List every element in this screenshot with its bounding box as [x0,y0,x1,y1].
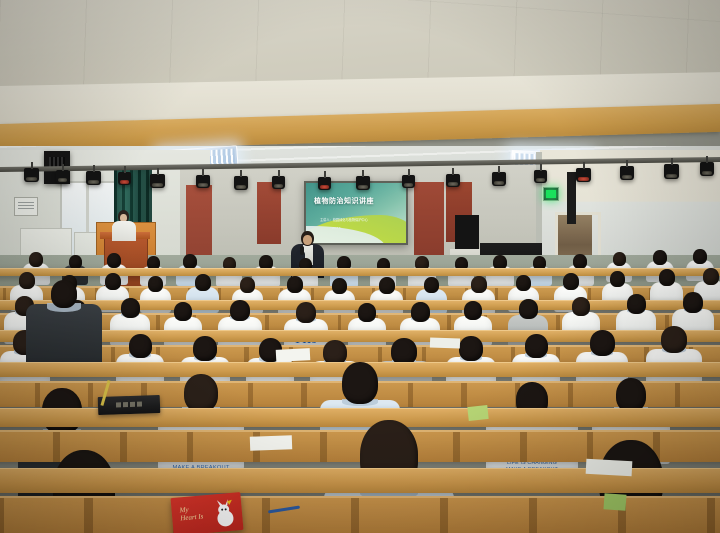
audience-member-head [183,254,197,269]
slide-subtitle: 主讲人：校园绿化与植物保护中心 [320,217,368,222]
audience-member-head [184,374,218,412]
audience-member-head [332,278,347,294]
stage-light-9 [318,177,331,190]
stage-light-6 [196,175,210,188]
slide-title: 植物防治知识讲座 [314,196,374,206]
stage-light-10 [356,176,370,190]
audience-member-head [693,249,707,264]
audience-member-head [358,303,376,322]
audience-member-head [563,273,579,290]
audience-member-head [287,276,303,293]
audience-member-head [230,300,250,321]
audience-member-head [379,277,395,294]
audience-member-head [51,280,77,308]
audience-member-head [573,254,587,269]
bench-slat [408,383,413,407]
paper-sheet [586,459,633,476]
audience-member-head [424,277,439,293]
audience-member-head [525,334,548,358]
bench-slat [447,315,450,330]
stage-light-lens [320,185,329,189]
projection-screen: 植物防治知识讲座 主讲人：校园绿化与植物保护中心 2017.5 [304,181,408,245]
bench-slat [440,498,448,533]
stage-light-17 [664,164,679,179]
stage-light-13 [492,172,506,186]
bench-slat [338,315,341,330]
stage-light-lens [120,180,129,184]
bench-slat [453,432,460,462]
bench-slat [84,498,92,533]
bench-slat [403,288,406,300]
bench-slat [520,432,527,462]
bench-slat [675,383,680,407]
stage-light-lens [274,184,283,188]
bench-slat [265,315,268,330]
bench-slat [351,498,359,533]
notebook-title-line2: Heart Is [180,512,204,522]
bench-slat [461,383,466,407]
bench-slat [156,315,159,330]
audience-member-head [516,275,531,291]
exit-sign-icon [543,187,559,201]
audience-member-head [627,294,646,314]
stage-light-lens [578,177,589,181]
stage-light-15 [576,168,591,182]
wall-speaker-right [567,172,576,224]
stage-light-5 [150,174,165,188]
stage-light-4 [118,172,131,185]
red-notebook-title: My Heart Is [179,504,203,522]
stage-light-3 [86,171,101,185]
audience-member-head [121,298,140,318]
audience-member-head [391,338,417,365]
stage-light-lens [702,171,712,175]
stage-light-lens [152,183,163,187]
stage-light-lens [88,180,99,184]
stage-light-16 [620,166,634,180]
audience-member-head [703,268,719,285]
green-notepad [467,405,488,421]
podium-presenter-body [112,221,136,241]
audience-member-head [129,334,152,358]
stage-speaker-cabinet [455,215,479,251]
green-notepad [603,493,626,510]
bench-slat [248,383,253,407]
stage-light-18 [700,162,714,176]
bench-slat [0,498,4,533]
bench-slat [311,288,314,300]
slide-date: 2017.5 [332,226,341,230]
audience-member-head [590,330,615,356]
stage-light-lens [26,177,37,181]
audience-member-head [296,302,316,323]
black-book [98,395,161,415]
audience-member-head [653,250,667,265]
stage-light-lens [494,181,504,185]
stage-light-lens [448,182,458,186]
audience-member-head [174,302,192,321]
microphone-icon [300,246,304,255]
audience-member-head [610,271,625,287]
audience-member-head [459,336,483,361]
audience-member-head [107,253,121,268]
audience-member-head [342,362,378,404]
stage-light-lens [622,175,632,179]
bench-slat [495,288,498,300]
bench-slat [529,498,537,533]
stage-light-11 [402,175,415,188]
speaker-face [303,235,312,245]
audience-member-head [464,301,482,320]
lecture-hall-photo: 植物防治知识讲座 主讲人：校园绿化与植物保护中心 2017.5 YHJYHJYH… [0,0,720,533]
audience-member-head [69,255,82,269]
audience-member-head [240,277,255,293]
audience-member-head [661,326,687,353]
stage-light-lens [236,185,246,189]
stage-light-lens [58,178,67,182]
audience-member-head [193,336,217,361]
red-notebook: My Heart Is [170,492,243,533]
audience-member-head [148,276,163,292]
paper-sheet [430,337,460,348]
audience-member-head [659,269,675,286]
stage-light-lens [404,183,413,187]
slide-surface: 植物防治知识讲座 主讲人：校园绿化与植物保护中心 2017.5 [306,183,406,243]
stage-light-lens [358,185,368,189]
audience-member-head [411,302,430,322]
audience-member-head [683,292,703,313]
audience-member-head [471,276,487,293]
wall-sign [14,197,38,216]
stage-light-lens [198,183,208,187]
stage-light-12 [446,174,460,187]
rabbit-mascot-icon [211,499,237,529]
audience-member-head [29,252,43,267]
bench-slat [301,383,306,407]
audience-member-head [572,297,590,316]
bench-slat [187,432,194,462]
bench-slat [262,498,270,533]
back-door-2 [257,182,281,244]
bench-slat [556,315,559,330]
stage-light-2 [56,170,69,183]
stage-light-7 [234,176,248,190]
stage-light-lens [666,174,677,178]
stage-light-lens [536,178,545,182]
audience-member-head [613,252,626,266]
audience-member-head [105,273,121,290]
bench-slat [707,498,715,533]
stage-light-1 [24,168,39,182]
stage-light-14 [534,170,547,183]
audience-member-head [616,378,646,412]
paper-sheet [250,435,292,450]
audience-member-head [195,274,211,291]
paper-sheet [276,348,311,362]
audience-member-head [519,299,538,319]
stage-light-8 [272,176,285,189]
